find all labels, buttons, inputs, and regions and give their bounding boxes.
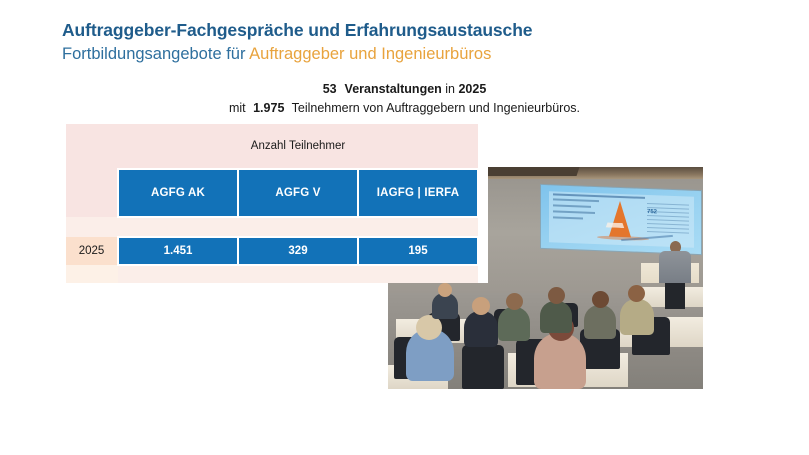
audience-person [498, 307, 530, 341]
audience-person [584, 305, 616, 339]
summary-participants-count: 1.975 [253, 101, 284, 115]
column-header-spacer [66, 169, 118, 217]
summary-event-mid: in [442, 82, 459, 96]
slide-bullet-lines [553, 198, 601, 234]
summary-event-noun: Veranstaltungen [345, 82, 442, 96]
summary-participants-prefix: mit [229, 101, 249, 115]
summary-block: 53 Veranstaltungen in 2025 mit 1.975 Tei… [0, 80, 809, 117]
summary-event-count: 53 [323, 82, 337, 96]
page-subtitle-accent: Auftraggeber und Ingenieurbüros [249, 45, 491, 63]
footer-cell-2 [238, 265, 358, 283]
audience-head [438, 283, 452, 297]
audience-head [472, 297, 490, 315]
summary-participants-rest: Teilnehmern von Auftraggebern und Ingeni… [288, 101, 580, 115]
audience-person [540, 301, 572, 333]
audience-person [534, 333, 586, 389]
seminar-scene-lower [388, 283, 703, 389]
projection-screen-content: 752 [549, 191, 694, 248]
summary-line-participants: mit 1.975 Teilnehmern von Auftraggebern … [0, 99, 809, 117]
spacer-cell-3 [358, 217, 478, 237]
audience-head [506, 293, 523, 310]
column-header-agfg-v: AGFG V [238, 169, 358, 217]
presenter-legs-dup [665, 283, 685, 309]
row-year-label: 2025 [66, 237, 118, 265]
slide-cone-chart [609, 201, 631, 238]
table-row-column-headers: AGFG AK AGFG V IAGFG | IERFA [66, 169, 478, 217]
spacer-cell-label [66, 217, 118, 237]
page-subtitle-prefix: Fortbildungsangebote für [62, 45, 249, 63]
page-subtitle: Fortbildungsangebote für Auftraggeber un… [62, 44, 682, 65]
slide-side-table [647, 203, 689, 247]
audience-person [620, 299, 654, 335]
column-header-iagfg-ierfa: IAGFG | IERFA [358, 169, 478, 217]
participants-table-grid: Anzahl Teilnehmer AGFG AK AGFG V IAGFG |… [66, 124, 479, 283]
cell-agfg-ak-2025: 1.451 [118, 237, 238, 265]
table-row-spacer-upper [66, 217, 478, 237]
group-header-spacer [66, 124, 118, 169]
slide-canvas: Auftraggeber-Fachgespräche und Erfahrung… [0, 0, 809, 455]
seminar-photo-upper: 752 [488, 167, 703, 284]
table-row: 2025 1.451 329 195 [66, 237, 478, 265]
table-row-group-header: Anzahl Teilnehmer [66, 124, 478, 169]
chair [462, 345, 504, 389]
table-group-header-label: Anzahl Teilnehmer [118, 124, 478, 169]
title-block: Auftraggeber-Fachgespräche und Erfahrung… [62, 20, 682, 65]
footer-cell-label [66, 265, 118, 283]
summary-line-events: 53 Veranstaltungen in 2025 [0, 80, 809, 98]
spacer-cell-2 [238, 217, 358, 237]
participants-table: Anzahl Teilnehmer AGFG AK AGFG V IAGFG |… [66, 124, 478, 283]
footer-cell-3 [358, 265, 478, 283]
audience-head [628, 285, 645, 302]
cell-agfg-v-2025: 329 [238, 237, 358, 265]
table-row-spacer-lower [66, 265, 478, 283]
presenter-body [659, 251, 691, 284]
audience-head [548, 287, 565, 304]
page-title: Auftraggeber-Fachgespräche und Erfahrung… [62, 20, 682, 42]
seminar-scene-upper: 752 [488, 167, 703, 284]
column-header-agfg-ak: AGFG AK [118, 169, 238, 217]
summary-event-year: 2025 [458, 82, 486, 96]
footer-cell-1 [118, 265, 238, 283]
audience-person [464, 311, 498, 347]
seminar-photo-lower [388, 283, 703, 389]
audience-head [592, 291, 609, 308]
spacer-cell-1 [118, 217, 238, 237]
cell-iagfg-ierfa-2025: 195 [358, 237, 478, 265]
ceiling-beam [488, 167, 579, 176]
